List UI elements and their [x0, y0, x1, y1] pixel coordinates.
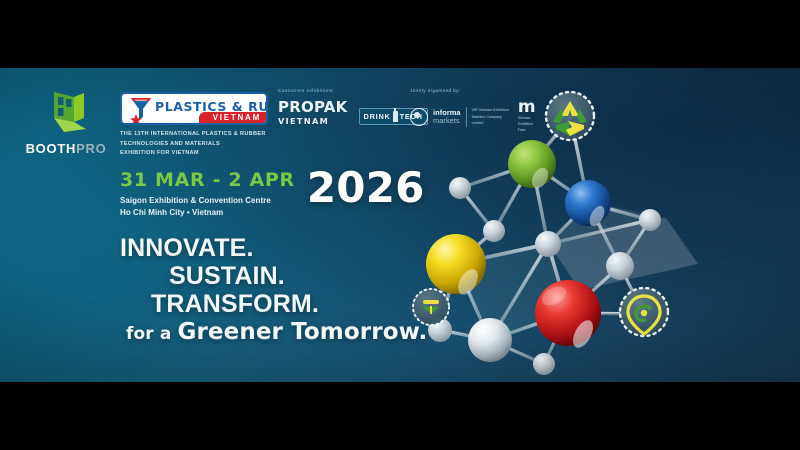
- letterbox-bottom: [0, 382, 800, 450]
- boothpro-wordmark: BOOTHPRO: [20, 141, 112, 156]
- event-banner: BOOTHPRO PLASTICS & RUBBER VIETNAM THE 1: [0, 68, 800, 382]
- propak-logo[interactable]: PROPAK VIETNAM: [278, 100, 348, 125]
- informa-note-line-1: VIR Vietnam Exhibition: [472, 107, 509, 113]
- informa-ring-icon: [410, 108, 428, 126]
- event-logo-country: VIETNAM: [199, 112, 266, 123]
- tagline-line-4-big: Greener Tomorrow.: [177, 319, 427, 345]
- bottle-icon: [393, 111, 398, 122]
- boothpro-bold-text: BOOTH: [26, 141, 77, 156]
- informa-light-text: markets: [433, 117, 461, 125]
- funnel-star-icon: [128, 96, 154, 125]
- informa-markets-logo[interactable]: informa markets VIR Vietnam Exhibition M…: [410, 107, 509, 126]
- subtitle-line-2: TECHNOLOGIES AND MATERIALS: [120, 140, 270, 150]
- organisers-caption: Jointly organised by:: [410, 88, 535, 93]
- screenshot-stage: BOOTHPRO PLASTICS & RUBBER VIETNAM THE 1: [0, 0, 800, 450]
- letterbox-top: [0, 0, 800, 68]
- propak-name: PROPAK: [278, 100, 348, 115]
- minhvi-note-line-3: Fairs: [518, 128, 535, 134]
- minhvi-note: Vietnam Exhibition Fairs: [518, 116, 535, 134]
- booth-isometric-icon: [40, 88, 92, 136]
- event-year: 2026: [307, 171, 425, 205]
- subtitle-line-3: EXHIBITION FOR VIETNAM: [120, 149, 270, 159]
- concurrent-caption: Concurrent exhibitions:: [278, 88, 428, 93]
- organisers-block: Jointly organised by: informa markets VI…: [410, 88, 535, 134]
- minhvi-logo[interactable]: m Vietnam Exhibition Fairs: [518, 100, 535, 134]
- venue-line-1: Saigon Exhibition & Convention Centre: [120, 195, 295, 207]
- subtitle-line-1: THE 13TH INTERNATIONAL PLASTICS & RUBBER: [120, 130, 270, 140]
- boothpro-logo[interactable]: BOOTHPRO: [20, 88, 112, 156]
- event-dates: 31 MAR - 2 APR: [120, 171, 295, 190]
- boothpro-light-text: PRO: [76, 141, 106, 156]
- tagline-line-4-small: for a: [126, 324, 177, 344]
- drinktech-left-text: DRINK: [364, 112, 391, 121]
- tagline-line-2: SUSTAIN.: [120, 262, 427, 290]
- event-logo-subtitle: THE 13TH INTERNATIONAL PLASTICS & RUBBER…: [120, 130, 270, 159]
- venue-line-2: Ho Chi Minh City • Vietnam: [120, 207, 295, 219]
- event-logo-box: PLASTICS & RUBBER VIETNAM: [120, 92, 268, 125]
- tagline-line-3: TRANSFORM.: [120, 290, 427, 318]
- informa-note: VIR Vietnam Exhibition Machine Company L…: [466, 107, 509, 126]
- event-venue: Saigon Exhibition & Convention Centre Ho…: [120, 195, 295, 218]
- informa-note-line-3: Limited: [472, 120, 509, 126]
- tagline-block: INNOVATE. SUSTAIN. TRANSFORM. for a Gree…: [120, 234, 427, 346]
- tagline-line-1: INNOVATE.: [120, 234, 427, 262]
- propak-sub: VIETNAM: [278, 117, 348, 125]
- date-venue-block: 31 MAR - 2 APR Saigon Exhibition & Conve…: [120, 171, 425, 218]
- minhvi-glyph: m: [518, 100, 535, 114]
- plastics-rubber-logo[interactable]: PLASTICS & RUBBER VIETNAM THE 13TH INTER…: [120, 92, 270, 159]
- concurrent-exhibitions-block: Concurrent exhibitions: PROPAK VIETNAM D…: [278, 88, 428, 125]
- tagline-line-4: for a Greener Tomorrow.: [120, 320, 427, 346]
